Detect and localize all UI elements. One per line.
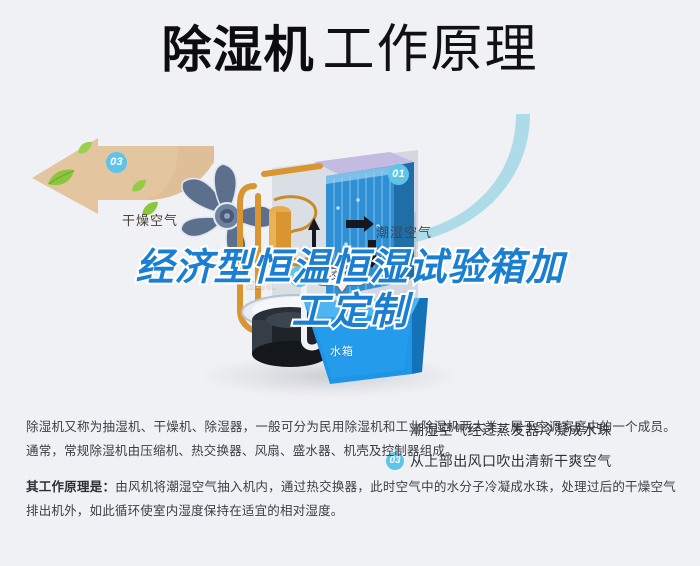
paragraph-2-lead: 其工作原理是： — [26, 480, 115, 494]
dry-air-label: 干燥空气 — [122, 210, 178, 229]
title-part-2: 工作原理 — [322, 21, 538, 79]
leaf-icon-3 — [130, 178, 148, 199]
badge-02-heat-exchanger: 02 — [289, 266, 310, 287]
heat-exchanger-bubble-label: 热交换器 — [314, 268, 368, 286]
page-title: 除湿机工作原理 — [0, 24, 700, 76]
moist-air-label: 潮湿空气 — [376, 222, 432, 241]
badge-03-dry-air: 03 — [106, 152, 127, 173]
paragraph-1: 除湿机又称为抽湿机、干燥机、除湿器，一般可分为民用除湿机和工业除湿机两大类，属于… — [26, 415, 676, 463]
badge-01-moist-air: 01 — [388, 164, 409, 185]
heat-exchanger-callout: 02 热交换器 — [289, 266, 368, 287]
dehumidifier-diagram: 03 01 02 热交换器 干燥空气 潮湿空气 压缩机 水箱 02 潮湿空气经过… — [0, 118, 700, 400]
leaf-icon-1 — [46, 168, 76, 193]
body-copy: 除湿机又称为抽湿机、干燥机、除湿器，一般可分为民用除湿机和工业除湿机两大类，属于… — [26, 415, 676, 523]
leaf-icon-2 — [76, 140, 94, 161]
infographic-page: 除湿机工作原理 — [0, 0, 700, 566]
paragraph-2-rest: 由风机将潮湿空气抽入机内，通过热交换器，此时空气中的水分子冷凝成水珠，处理过后的… — [26, 480, 676, 518]
compressor-label: 压缩机 — [246, 278, 276, 291]
water-tank-label: 水箱 — [330, 343, 354, 359]
paragraph-2: 其工作原理是：由风机将潮湿空气抽入机内，通过热交换器，此时空气中的水分子冷凝成水… — [26, 475, 676, 523]
title-part-1: 除湿机 — [161, 22, 314, 78]
water-tank-icon — [300, 296, 450, 401]
